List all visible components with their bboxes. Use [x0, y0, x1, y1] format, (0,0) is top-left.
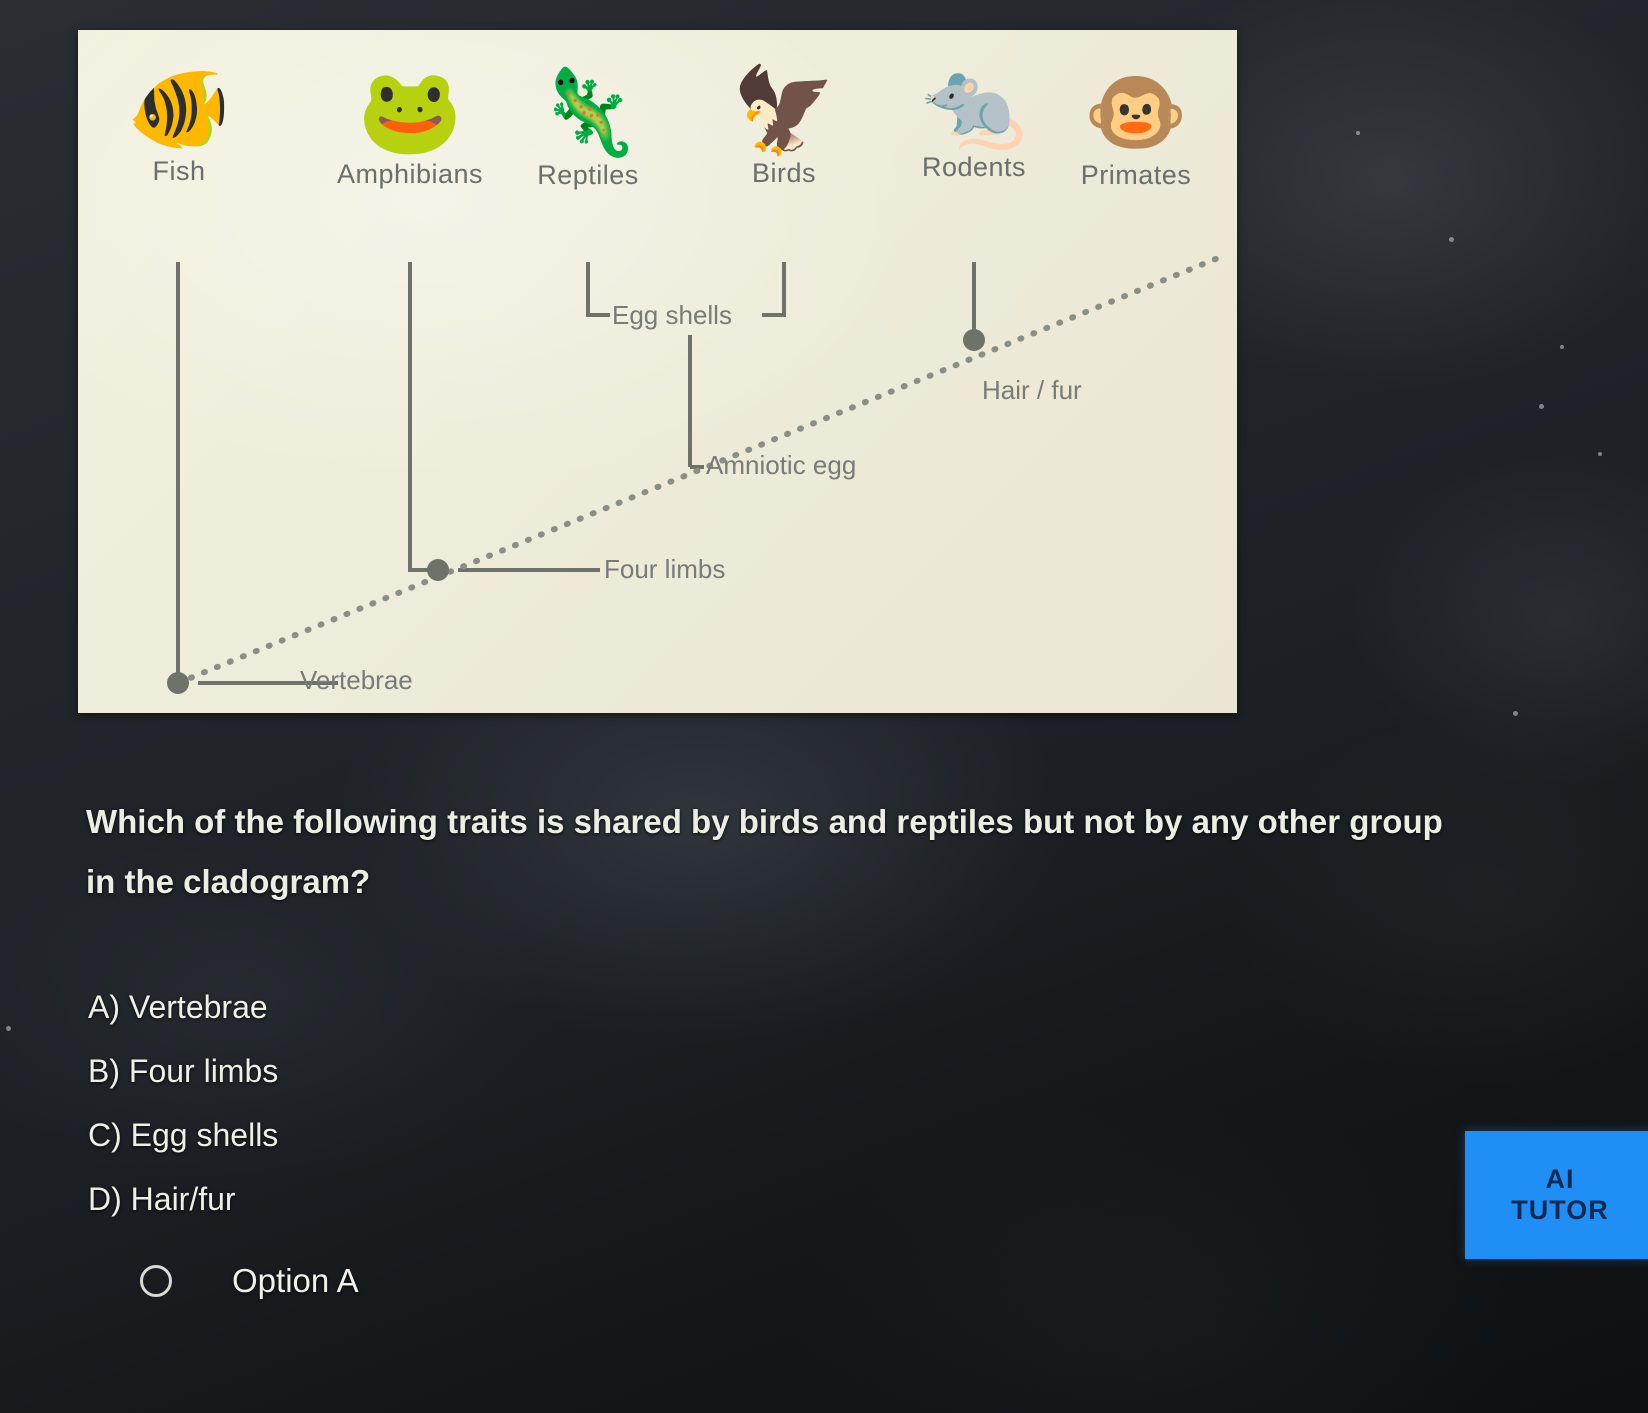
dust-speckle	[1449, 237, 1454, 242]
option-c: C) Egg shells	[88, 1103, 988, 1167]
radio-button-option-a[interactable]	[140, 1265, 172, 1297]
trait-label-egg-shells: Egg shells	[612, 300, 732, 331]
taxon-label-fish: Fish	[100, 156, 258, 187]
option-d: D) Hair/fur	[88, 1167, 988, 1231]
taxon-label-primates: Primates	[1038, 160, 1234, 191]
ai-tutor-line1: AI	[1546, 1164, 1575, 1195]
trait-label-amniotic-egg: Amniotic egg	[706, 450, 856, 481]
trait-label-four-limbs: Four limbs	[604, 554, 725, 585]
taxon-fish: 🐠 Fish	[100, 60, 258, 187]
taxon-label-birds: Birds	[686, 158, 882, 189]
eagle-emoji: 🦅	[686, 62, 882, 158]
taxon-reptiles: 🦎 Reptiles	[490, 64, 686, 191]
ai-tutor-line2: TUTOR	[1511, 1195, 1609, 1226]
trait-label-vertebrae: Vertebrae	[300, 665, 413, 696]
taxon-primates: 🐵 Primates	[1038, 64, 1234, 191]
ai-tutor-button[interactable]: AI TUTOR	[1465, 1131, 1648, 1259]
monkey-face-emoji: 🐵	[1038, 64, 1234, 160]
choice-label-option-a: Option A	[232, 1262, 359, 1300]
photo-of-screen: 🐠 Fish 🐸 Amphibians 🦎 Reptiles 🦅 Birds 🐀…	[0, 0, 1648, 1413]
cladogram-image: 🐠 Fish 🐸 Amphibians 🦎 Reptiles 🦅 Birds 🐀…	[78, 30, 1237, 713]
dust-speckle	[1539, 404, 1544, 409]
answer-options: A) Vertebrae B) Four limbs C) Egg shells…	[88, 975, 988, 1231]
tropical-fish-emoji: 🐠	[100, 60, 258, 156]
taxon-birds: 🦅 Birds	[686, 62, 882, 189]
option-a: A) Vertebrae	[88, 975, 988, 1039]
trait-label-hair-fur: Hair / fur	[982, 375, 1082, 406]
dust-speckle	[1356, 131, 1360, 135]
dust-speckle	[6, 1026, 11, 1031]
dust-speckle	[1560, 345, 1564, 349]
option-b: B) Four limbs	[88, 1039, 988, 1103]
choice-row-option-a[interactable]: Option A	[140, 1262, 359, 1300]
question-text: Which of the following traits is shared …	[86, 792, 1476, 912]
dust-speckle	[1513, 711, 1518, 716]
lizard-emoji: 🦎	[490, 64, 686, 160]
dust-speckle	[1598, 452, 1602, 456]
taxon-label-reptiles: Reptiles	[490, 160, 686, 191]
